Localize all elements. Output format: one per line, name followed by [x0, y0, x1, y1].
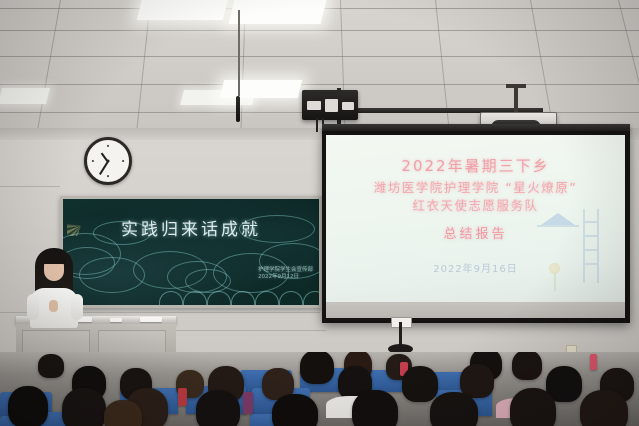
- student-head: [38, 354, 64, 378]
- student-head: [272, 394, 318, 426]
- slide-illustration: [535, 207, 611, 293]
- student-head: [402, 366, 438, 402]
- slide-line-2: 潍坊医学院护理学院 “星火燎原”: [326, 177, 625, 196]
- wall-clock: [84, 137, 132, 185]
- screen-lower-band: [326, 302, 625, 318]
- student-head: [62, 388, 106, 426]
- hanging-sensor: [236, 96, 240, 122]
- slide-date: 2022年9月16日: [326, 260, 625, 275]
- student-head: [580, 390, 628, 426]
- water-bottle: [243, 392, 253, 414]
- water-bottle: [178, 388, 187, 406]
- audience-area: [0, 352, 639, 426]
- water-bottle: [590, 354, 597, 370]
- slide-line-1: 2022年暑期三下乡: [326, 155, 625, 176]
- presenter-left-arm: [27, 294, 39, 320]
- ceiling-light-panel: [137, 0, 229, 20]
- av-control-box: [302, 90, 358, 120]
- presenter-hand: [49, 300, 58, 312]
- blackboard-credit: 护理学院学生会宣传部 2022年9月12日: [258, 267, 313, 281]
- student-head: [8, 386, 48, 426]
- blackboard-credit-line1: 护理学院学生会宣传部: [258, 267, 313, 274]
- clock-ticks: [90, 143, 126, 179]
- blackboard-frame: 实践归来话成就 护理学院学生会宣传部 2022年9月12日: [60, 196, 322, 308]
- slide-line-3: 红衣天使志愿服务队: [326, 195, 625, 214]
- student-head: [352, 390, 398, 426]
- presenter-bangs: [42, 254, 66, 264]
- student-head: [510, 388, 556, 426]
- slide-title: 总结报告: [326, 223, 625, 242]
- blackboard-headline: 实践归来话成就: [121, 215, 261, 240]
- student-head: [512, 352, 542, 380]
- ceiling-light-panel: [220, 80, 302, 98]
- blackboard-credit-line2: 2022年9月12日: [258, 274, 313, 281]
- presenter: [24, 248, 86, 326]
- projection-screen: 2022年暑期三下乡 潍坊医学院护理学院 “星火燎原” 红衣天使志愿服务队 总结…: [326, 135, 625, 318]
- classroom-scene: 实践归来话成就 护理学院学生会宣传部 2022年9月12日: [0, 0, 639, 426]
- projection-screen-frame: 2022年暑期三下乡 潍坊医学院护理学院 “星火燎原” 红衣天使志愿服务队 总结…: [322, 131, 630, 323]
- student-head: [104, 400, 142, 426]
- ceiling-light-panel: [229, 0, 328, 24]
- student-head: [430, 392, 478, 426]
- blackboard: 实践归来话成就 护理学院学生会宣传部 2022年9月12日: [63, 199, 319, 305]
- student-head: [300, 352, 334, 384]
- flower-stem: [554, 273, 556, 291]
- student-head: [196, 390, 240, 426]
- ceiling-light-panel: [0, 88, 50, 104]
- presenter-right-arm: [71, 294, 83, 320]
- projector-drop-mast: [514, 86, 518, 114]
